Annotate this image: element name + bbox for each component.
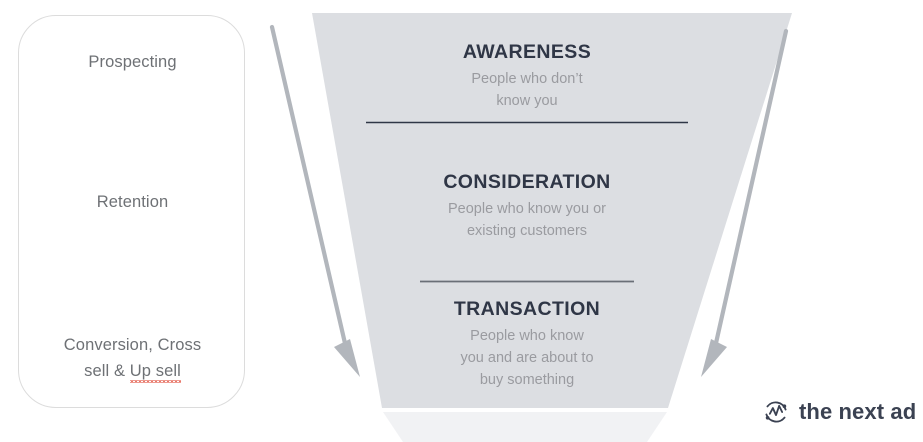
funnel-stage-transaction-description-line3: buy something — [480, 372, 574, 388]
lifecycle-label-retention: Retention — [19, 189, 246, 215]
funnel-stage-awareness-title: AWARENESS — [362, 40, 692, 64]
brand-logo: the next ad — [762, 398, 916, 426]
funnel-diagram-canvas: Prospecting Retention Conversion, Cross … — [0, 0, 923, 442]
funnel-stage-consideration-description-line2: existing customers — [467, 223, 587, 239]
funnel-stage-transaction-description-line2: you and are about to — [460, 350, 593, 366]
lifecycle-conversion-line2: sell & Up sell — [19, 358, 246, 384]
funnel-stage-awareness-description-line1: People who don’t — [471, 71, 582, 87]
funnel-reflection-shape — [383, 412, 667, 442]
funnel-stage-transaction-description: People who know you and are about to buy… — [400, 325, 654, 391]
lifecycle-conversion-line2-flagged: Up sell — [130, 358, 181, 384]
funnel-stage-consideration-description-line1: People who know you or — [448, 201, 606, 217]
funnel-stage-consideration: CONSIDERATION People who know you or exi… — [382, 170, 672, 242]
circular-chart-loop-icon — [762, 398, 790, 426]
funnel-stage-transaction-description-line1: People who know — [470, 328, 584, 344]
funnel-stage-awareness: AWARENESS People who don’t know you — [362, 40, 692, 112]
funnel-stage-transaction: TRANSACTION People who know you and are … — [400, 297, 654, 391]
lifecycle-conversion-line2-plain: sell & — [84, 362, 130, 380]
funnel-stage-awareness-description: People who don’t know you — [362, 68, 692, 112]
brand-name: the next ad — [799, 399, 916, 425]
lifecycle-label-conversion: Conversion, Cross sell & Up sell — [19, 332, 246, 384]
funnel-stage-consideration-description: People who know you or existing customer… — [382, 198, 672, 242]
funnel-stage-awareness-description-line2: know you — [496, 93, 557, 109]
funnel-stage-consideration-title: CONSIDERATION — [382, 170, 672, 194]
customer-lifecycle-panel: Prospecting Retention Conversion, Cross … — [18, 15, 245, 408]
lifecycle-conversion-line1: Conversion, Cross — [19, 332, 246, 358]
lifecycle-label-prospecting: Prospecting — [19, 49, 246, 75]
funnel-stage-transaction-title: TRANSACTION — [400, 297, 654, 321]
